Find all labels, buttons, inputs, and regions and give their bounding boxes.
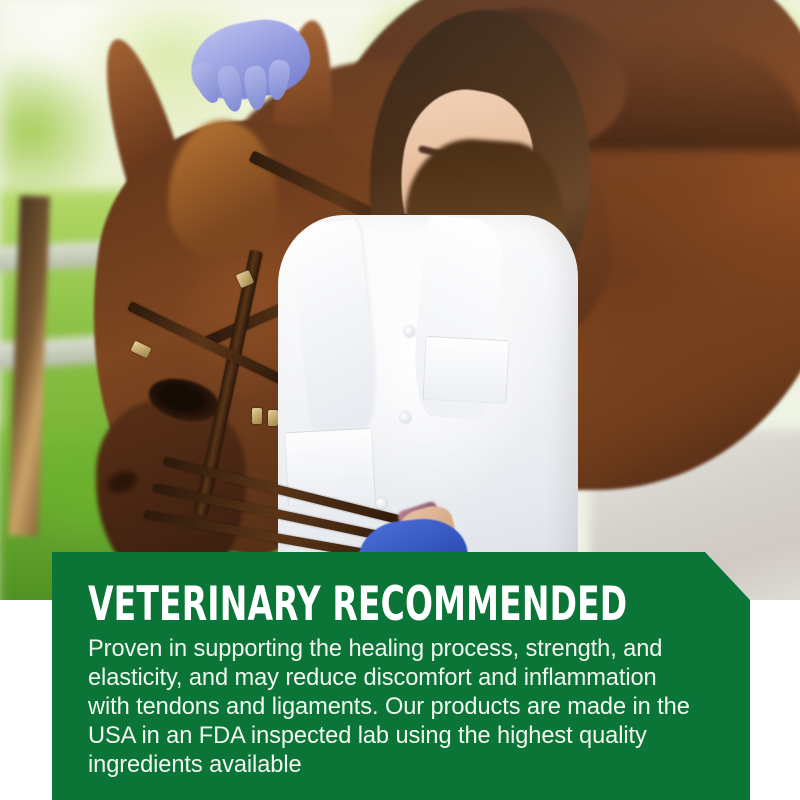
banner-body-text: Proven in supporting the healing process…	[88, 634, 698, 779]
bridle-buckle-cheek-right	[268, 410, 278, 426]
lab-coat-button-1	[404, 326, 415, 337]
green-message-banner: VETERINARY RECOMMENDED Proven in support…	[52, 552, 750, 800]
lab-coat-button-3	[376, 498, 387, 509]
lab-coat-button-2	[400, 412, 411, 423]
bridle-buckle-cheek-left	[252, 408, 262, 424]
advertisement-card: VETERINARY RECOMMENDED Proven in support…	[0, 0, 800, 800]
banner-heading: VETERINARY RECOMMENDED	[88, 582, 627, 628]
lab-coat-chest-pocket	[422, 336, 509, 404]
hero-photo	[0, 0, 800, 600]
